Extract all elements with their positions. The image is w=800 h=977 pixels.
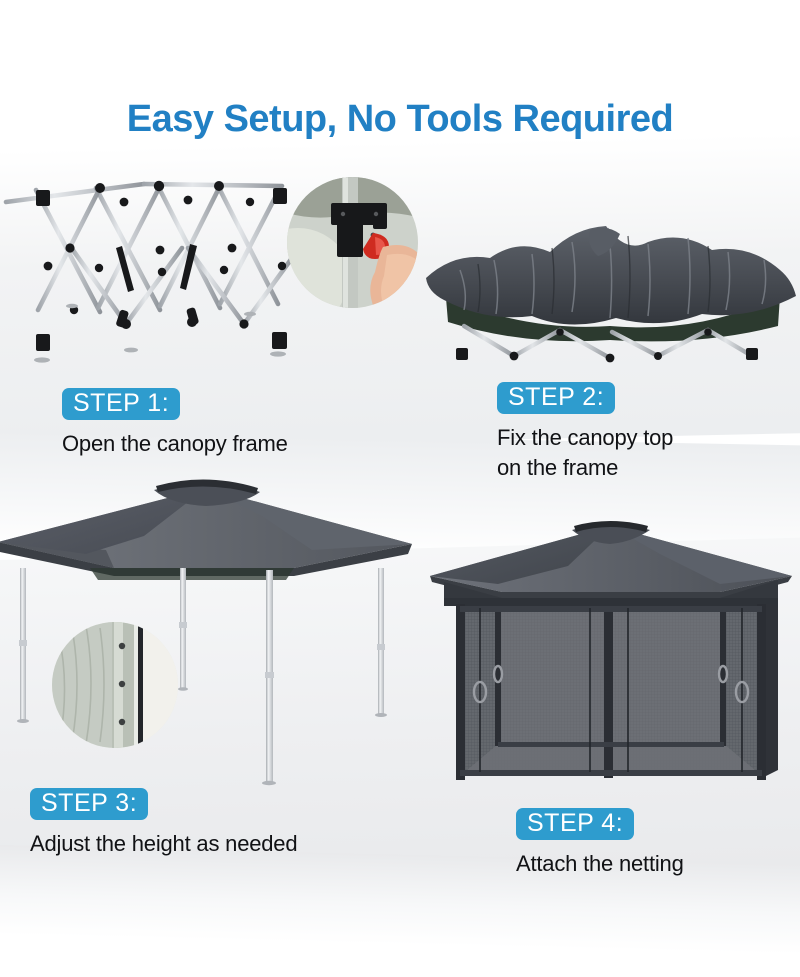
hand-pressing-red-release-button-inset	[287, 177, 418, 308]
step-4-caption-block: STEP 4: Attach the netting	[516, 808, 684, 879]
step-4-text: Attach the netting	[516, 849, 684, 879]
step-1-text: Open the canopy frame	[62, 429, 288, 459]
infographic-page: Easy Setup, No Tools Required	[0, 0, 800, 977]
step-1-caption-block: STEP 1: Open the canopy frame	[62, 388, 288, 459]
step-2-text: Fix the canopy top on the frame	[497, 423, 673, 484]
step-4-badge: STEP 4:	[516, 808, 634, 840]
step-3-badge: STEP 3:	[30, 788, 148, 820]
step-2-badge: STEP 2:	[497, 382, 615, 414]
telescoping-leg-adjustment-holes-inset	[52, 622, 178, 748]
page-title: Easy Setup, No Tools Required	[0, 98, 800, 141]
step-2-caption-block: STEP 2: Fix the canopy top on the frame	[497, 382, 673, 484]
step-3-caption-block: STEP 3: Adjust the height as needed	[30, 788, 297, 859]
step-1-badge: STEP 1:	[62, 388, 180, 420]
step-4-image	[420, 520, 800, 812]
step-2-image	[420, 222, 800, 382]
step-3-text: Adjust the height as needed	[30, 829, 297, 859]
step-3-image	[0, 472, 414, 802]
step-1-image	[0, 162, 322, 384]
